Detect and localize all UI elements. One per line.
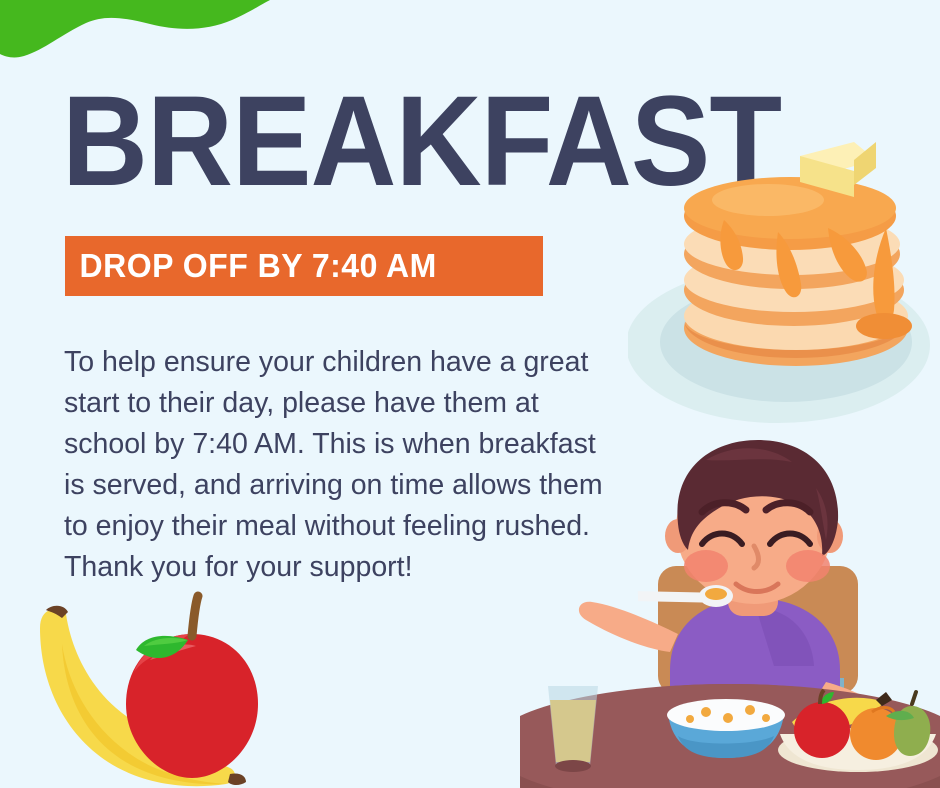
drop-off-banner-text: DROP OFF BY 7:40 AM [65,247,437,285]
page-title: BREAKFAST [62,78,781,206]
drop-off-banner: DROP OFF BY 7:40 AM [65,236,543,296]
banana-and-apple-illustration [0,588,300,788]
breakfast-poster: BREAKFAST DROP OFF BY 7:40 AM To help en… [0,0,940,788]
body-paragraph: To help ensure your children have a grea… [64,342,619,588]
green-wave-decoration [0,0,270,70]
